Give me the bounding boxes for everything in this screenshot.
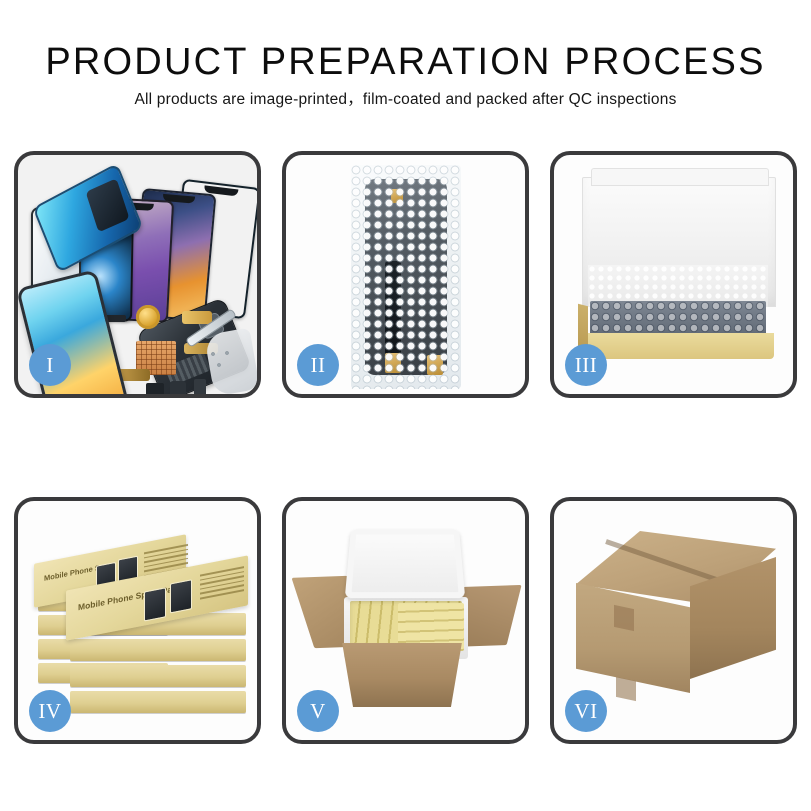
step-badge-3: III bbox=[565, 344, 607, 386]
process-step-grid: I II bbox=[14, 151, 797, 744]
header: PRODUCT PREPARATION PROCESS All products… bbox=[0, 40, 811, 110]
stack-box-front-3 bbox=[70, 665, 246, 687]
step-panel-3: III bbox=[550, 151, 797, 398]
box-art-screen-3 bbox=[144, 587, 166, 621]
product-preparation-infographic: PRODUCT PREPARATION PROCESS All products… bbox=[0, 0, 811, 811]
box-art-screen-4 bbox=[170, 579, 192, 613]
step-panel-6: VI bbox=[550, 497, 797, 744]
part-battery-module bbox=[194, 379, 206, 394]
step-badge-1: I bbox=[29, 344, 71, 386]
box-spec-lines-2 bbox=[200, 566, 244, 602]
inner-box-front-panel bbox=[582, 333, 774, 359]
carton-body bbox=[334, 643, 470, 707]
step-badge-5: V bbox=[297, 690, 339, 732]
page-subtitle: All products are image-printed，film-coat… bbox=[0, 90, 811, 110]
box-stack: Mobile Phone Spare Parts Mobile Phone Sp… bbox=[34, 527, 248, 723]
part-chip-square bbox=[170, 381, 186, 394]
bubble-wrap-package bbox=[351, 165, 461, 389]
step-badge-4: IV bbox=[29, 690, 71, 732]
stack-box-front-4 bbox=[70, 691, 246, 713]
step-panel-2: II bbox=[282, 151, 529, 398]
stack-box-front-2 bbox=[70, 639, 246, 661]
step-badge-6: VI bbox=[565, 690, 607, 732]
box-brand-label: Mobile Phone Spare Parts bbox=[78, 582, 183, 612]
page-title: PRODUCT PREPARATION PROCESS bbox=[0, 40, 811, 84]
part-chip-small bbox=[146, 383, 164, 394]
step-panel-5: V bbox=[282, 497, 529, 744]
step-panel-1: I bbox=[14, 151, 261, 398]
carton-left-face bbox=[576, 583, 690, 693]
foam-lid bbox=[345, 529, 465, 598]
part-screws bbox=[209, 350, 235, 372]
part-flex-cable-a bbox=[182, 311, 212, 324]
carton-tape-patch-upper bbox=[614, 605, 634, 631]
step-panel-4: Mobile Phone Spare Parts Mobile Phone Sp… bbox=[14, 497, 261, 744]
bubble-texture bbox=[351, 165, 461, 389]
step-badge-2: II bbox=[297, 344, 339, 386]
part-gold-coil bbox=[136, 305, 160, 329]
carton-tape-patch-lower bbox=[616, 677, 636, 701]
